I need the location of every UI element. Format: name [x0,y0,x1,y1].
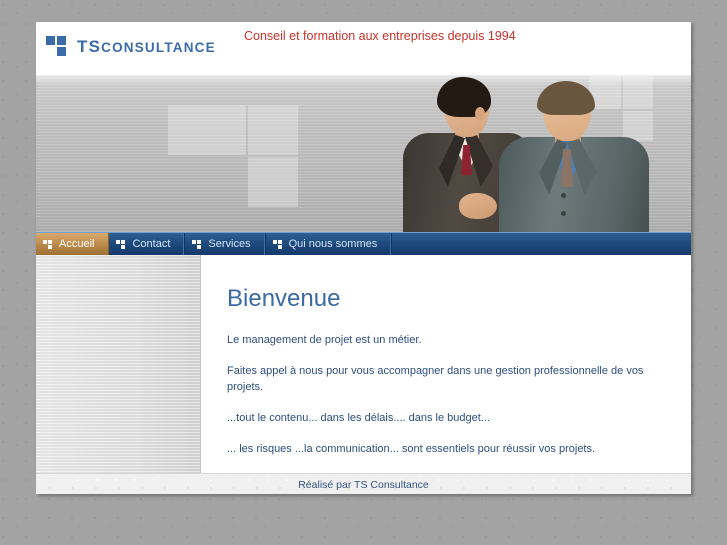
content-paragraph: Faites appel à nous pour vous accompagne… [227,364,669,396]
logo-text-secondary: CONSULTANCE [101,40,216,55]
three-squares-icon [46,36,70,57]
footer-credit: Réalisé par TS Consultance [298,479,429,491]
three-squares-icon [192,240,202,249]
nav-item-qui-nous-sommes[interactable]: Qui nous sommes [266,233,393,255]
nav-item-contact[interactable]: Contact [109,233,185,255]
nav-filler [392,233,691,255]
body-area: Bienvenue Le management de projet est un… [36,255,691,473]
page-container: TSCONSULTANCE Conseil et formation aux e… [36,22,691,494]
nav-item-label: Qui nous sommes [289,238,378,250]
site-logo[interactable]: TSCONSULTANCE [46,36,216,57]
three-squares-icon [43,240,53,249]
main-content: Bienvenue Le management de projet est un… [201,255,691,473]
hero-banner [36,75,691,232]
nav-item-services[interactable]: Services [185,233,265,255]
nav-item-accueil[interactable]: Accueil [36,233,109,255]
page-title: Bienvenue [227,287,669,311]
businessman-right [499,75,649,232]
left-sidebar [36,255,201,473]
site-tagline: Conseil et formation aux entreprises dep… [244,29,516,43]
content-paragraph: Le management de projet est un métier. [227,333,669,349]
nav-item-label: Accueil [59,238,94,250]
main-navigation: Accueil Contact Services Qui nous sommes [36,232,691,255]
nav-item-label: Services [208,238,250,250]
content-paragraph: ... les risques ...la communication... s… [227,442,669,458]
masthead: TSCONSULTANCE Conseil et formation aux e… [36,22,691,75]
logo-wordmark: TSCONSULTANCE [77,37,216,57]
businessmen-photo [391,75,656,232]
page-footer: Réalisé par TS Consultance [36,473,691,494]
content-paragraph: ...tout le contenu... dans les délais...… [227,411,669,427]
logo-text-primary: TS [77,37,101,56]
nav-item-label: Contact [132,238,170,250]
three-squares-icon [273,240,283,249]
three-squares-icon [116,240,126,249]
